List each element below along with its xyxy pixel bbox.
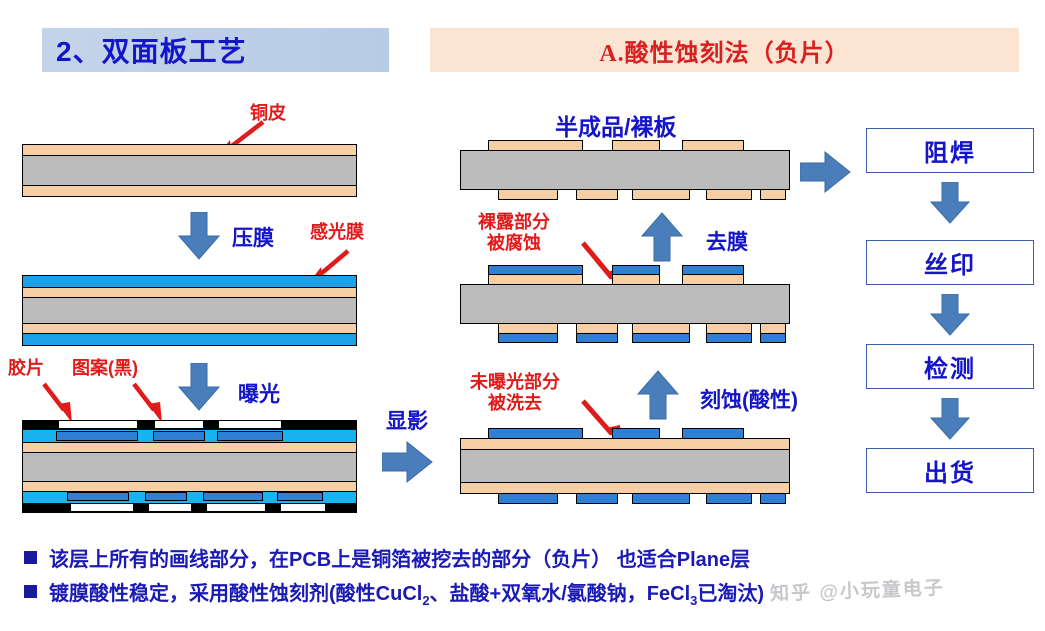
flow-step-solder-mask[interactable]: 阻焊	[866, 128, 1034, 173]
resist-bottom	[632, 333, 690, 343]
trace-bottom	[760, 189, 786, 200]
label-artwork-pattern: 图案(黑)	[72, 358, 138, 379]
flow-step-label: 检测	[924, 349, 976, 384]
board-stage-finished	[460, 140, 790, 210]
label-exposed-etched: 裸露部分 被腐蚀	[478, 212, 550, 253]
section-header-right: A.酸性蚀刻法（负片）	[430, 28, 1019, 72]
arrow-up-etching	[636, 370, 680, 420]
label-semi-finished-board: 半成品/裸板	[555, 108, 676, 142]
board-stage-film	[22, 275, 357, 345]
arrow-right-to-flow	[800, 150, 852, 194]
flow-step-label: 出货	[924, 453, 976, 488]
board-stage-developed	[460, 428, 790, 508]
board-stage-laminate	[22, 144, 357, 196]
layer-core	[460, 150, 790, 190]
arrow-down-exposure	[178, 363, 220, 411]
trace-bottom	[632, 189, 690, 200]
section-header-left-title: 2、双面板工艺	[56, 30, 247, 70]
flow-step-silkscreen[interactable]: 丝印	[866, 240, 1034, 285]
bullet-list: 该层上所有的画线部分，在PCB上是铜箔被挖去的部分（负片） 也适合Plane层 …	[24, 543, 1034, 613]
label-photosensitive-film: 感光膜	[310, 222, 364, 243]
bullet-square-icon	[24, 551, 37, 564]
label-strip-film: 去膜	[706, 226, 748, 256]
arrow-up-strip-film	[640, 212, 684, 262]
layer-copper-bottom	[22, 185, 357, 197]
bullet-square-icon	[24, 585, 37, 598]
label-lamination: 压膜	[232, 222, 274, 252]
bullet-text: 该层上所有的画线部分，在PCB上是铜箔被挖去的部分（负片） 也适合Plane层	[49, 543, 750, 572]
flow-arrow-3	[930, 398, 970, 440]
arrow-down-lamination	[178, 212, 220, 260]
layer-film-bottom	[22, 333, 357, 346]
flow-arrow-1	[930, 182, 970, 224]
resist-bottom	[760, 493, 786, 504]
resist-bottom	[706, 333, 752, 343]
resist-bottom	[498, 493, 558, 504]
flow-step-label: 阻焊	[924, 133, 976, 168]
trace-bottom	[576, 189, 618, 200]
bullet-item: 镀膜酸性稳定，采用酸性蚀刻剂(酸性CuCl2、盐酸+双氧水/氯酸钠，FeCl3已…	[24, 577, 1034, 608]
section-header-right-title: A.酸性蚀刻法（负片）	[599, 33, 849, 68]
layer-core	[22, 452, 357, 482]
bullet-item: 该层上所有的画线部分，在PCB上是铜箔被挖去的部分（负片） 也适合Plane层	[24, 543, 1034, 572]
label-exposure: 曝光	[238, 378, 280, 408]
trace-bottom	[498, 189, 558, 200]
label-developing: 显影	[386, 405, 428, 435]
flow-step-inspection[interactable]: 检测	[866, 344, 1034, 389]
layer-core	[22, 155, 357, 186]
layer-core	[460, 449, 790, 483]
flow-step-shipping[interactable]: 出货	[866, 448, 1034, 493]
flow-step-label: 丝印	[924, 245, 976, 280]
trace-bottom	[706, 189, 752, 200]
arrow-right-developing	[382, 440, 434, 484]
label-artwork-film: 胶片	[8, 358, 44, 379]
layer-core	[22, 297, 357, 324]
board-stage-exposure	[22, 420, 357, 504]
label-unexposed-washed: 未曝光部分 被洗去	[470, 372, 560, 413]
flow-arrow-2	[930, 294, 970, 336]
board-stage-strip	[460, 265, 790, 355]
resist-bottom	[706, 493, 752, 504]
layer-core	[460, 284, 790, 324]
label-etching-acid: 刻蚀(酸性)	[700, 384, 798, 414]
resist-bottom	[632, 493, 690, 504]
section-header-left: 2、双面板工艺	[42, 28, 389, 72]
resist-bottom	[760, 333, 786, 343]
resist-bottom	[498, 333, 558, 343]
resist-bottom	[576, 333, 618, 343]
resist-bottom	[576, 493, 618, 504]
bullet-text: 镀膜酸性稳定，采用酸性蚀刻剂(酸性CuCl2、盐酸+双氧水/氯酸钠，FeCl3已…	[49, 577, 764, 608]
